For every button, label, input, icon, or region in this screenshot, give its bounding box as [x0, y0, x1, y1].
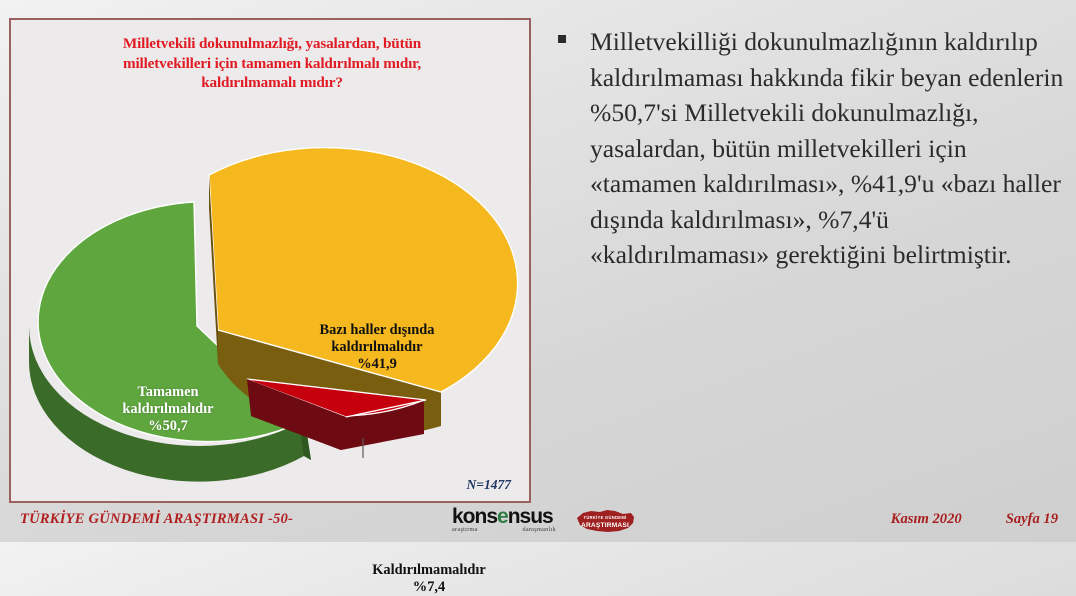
konsensus-wordmark-pre: kons: [452, 505, 497, 528]
footer-meta: Kasım 2020 Sayfa 19: [891, 511, 1058, 528]
chart-title-line-3: kaldırılmamalı mıdır?: [37, 73, 507, 93]
footer-survey-title: TÜRKİYE GÜNDEMİ ARAŞTIRMASI -50-: [20, 511, 293, 528]
turkey-logo-top-text: TÜRKİYE GÜNDEMİ: [584, 515, 627, 520]
konsensus-logo: konsensus araştırma danışmanlık: [452, 506, 564, 536]
pie-label-red-value: %7,4: [329, 579, 529, 596]
pie-label-green-line2: kaldırılmalıdır: [73, 401, 263, 418]
pie-label-yellow-value: %41,9: [267, 356, 487, 373]
footer-date: Kasım 2020: [891, 511, 962, 528]
chart-title-line-2: milletvekilleri için tamamen kaldırılmal…: [37, 54, 507, 74]
konsensus-wordmark-e: e: [497, 505, 508, 528]
konsensus-wordmark-post: nsus: [508, 505, 553, 528]
chart-title: Milletvekili dokunulmazlığı, yasalardan,…: [37, 34, 507, 93]
turkey-logo-main-text: ARAŞTIRMASI: [581, 522, 629, 529]
footer-page-number: Sayfa 19: [1006, 511, 1058, 528]
konsensus-tagline-right: danışmanlık: [522, 526, 556, 533]
pie-label-red: Kaldırılmamalıdır %7,4: [329, 562, 529, 596]
sample-size-label: N=1477: [467, 477, 511, 493]
body-text: Milletvekilliği dokunulmazlığının kaldır…: [590, 24, 1068, 273]
pie-label-yellow: Bazı haller dışında kaldırılmalıdır %41,…: [267, 322, 487, 373]
chart-panel: Milletvekili dokunulmazlığı, yasalardan,…: [9, 18, 531, 503]
konsensus-wordmark: konsensus: [452, 506, 564, 527]
pie-label-green: Tamamen kaldırılmalıdır %50,7: [73, 384, 263, 435]
konsensus-tagline-left: araştırma: [452, 526, 478, 533]
pie-chart-svg: [11, 138, 533, 498]
body-text-block: Milletvekilliği dokunulmazlığının kaldır…: [558, 24, 1068, 273]
footer-logos: konsensus araştırma danışmanlık TÜRKİYE …: [452, 506, 636, 536]
pie-label-green-line1: Tamamen: [73, 384, 263, 401]
turkey-map-logo: TÜRKİYE GÜNDEMİ ARAŞTIRMASI: [574, 506, 636, 536]
bullet-square-icon: [558, 35, 566, 43]
pie-label-yellow-line1: Bazı haller dışında: [267, 322, 487, 339]
pie-label-yellow-line2: kaldırılmalıdır: [267, 339, 487, 356]
pie-label-green-value: %50,7: [73, 418, 263, 435]
turkey-map-icon: TÜRKİYE GÜNDEMİ ARAŞTIRMASI: [574, 506, 636, 536]
chart-title-line-1: Milletvekili dokunulmazlığı, yasalardan,…: [37, 34, 507, 54]
pie-chart: Tamamen kaldırılmalıdır %50,7 Bazı halle…: [11, 138, 533, 498]
pie-label-red-line1: Kaldırılmamalıdır: [329, 562, 529, 579]
